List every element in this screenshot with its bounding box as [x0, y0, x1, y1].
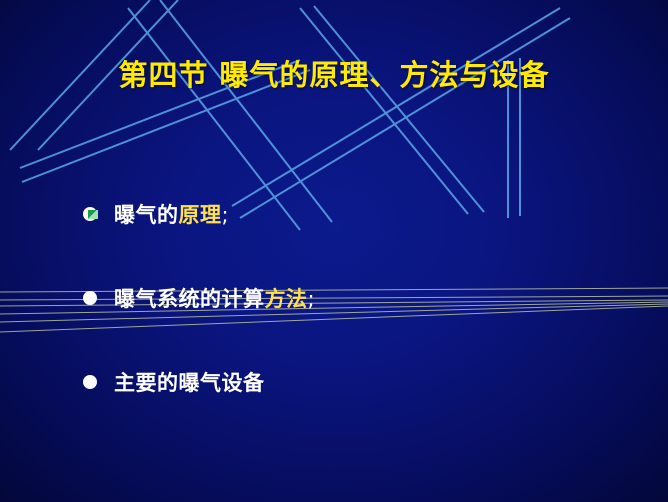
- list-item: 曝气的原理;: [82, 172, 622, 256]
- list-item-emphasis: 原理: [179, 203, 222, 227]
- list-item-emphasis: 方法: [265, 287, 308, 311]
- slide-title: 第四节 曝气的原理、方法与设备: [0, 52, 668, 94]
- list-item-lead: 曝气系统的计算: [114, 287, 265, 311]
- list-item-text: 主要的曝气设备: [114, 367, 265, 397]
- list-item-tail: ;: [308, 287, 316, 311]
- bullet-dot-icon: [82, 203, 104, 225]
- presentation-slide: 第四节 曝气的原理、方法与设备 曝气的原理; 曝气系统的计算方法; 主要的曝: [0, 0, 668, 502]
- bullet-dot-icon: [82, 287, 104, 309]
- list-item-lead: 主要的曝气设备: [114, 371, 265, 395]
- list-item: 主要的曝气设备: [82, 340, 622, 424]
- list-item-text: 曝气的原理;: [114, 199, 229, 229]
- list-item-tail: ;: [222, 203, 230, 227]
- list-item: 曝气系统的计算方法;: [82, 256, 622, 340]
- list-item-text: 曝气系统的计算方法;: [114, 283, 315, 313]
- bullet-dot-icon: [82, 371, 104, 393]
- bullet-list: 曝气的原理; 曝气系统的计算方法; 主要的曝气设备: [82, 172, 622, 424]
- list-item-lead: 曝气的: [114, 203, 179, 227]
